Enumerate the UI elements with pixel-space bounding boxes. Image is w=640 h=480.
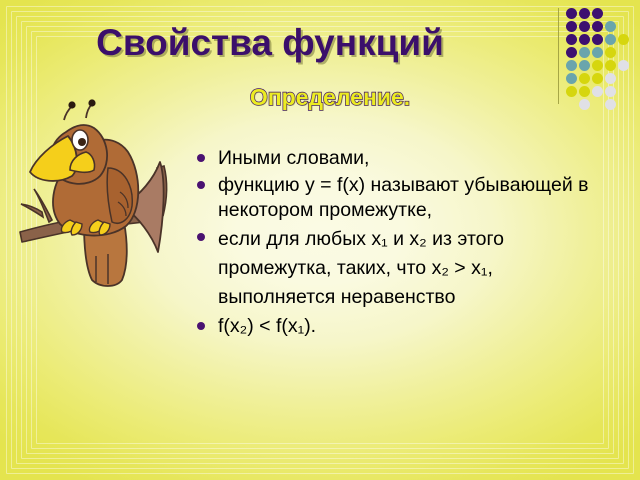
bullet-marker-icon: [197, 181, 205, 189]
decorative-dot: [605, 99, 616, 110]
decorative-dot: [579, 60, 590, 71]
decorative-dot: [579, 99, 590, 110]
decorative-dot: [592, 73, 603, 84]
decorative-dot: [566, 73, 577, 84]
decorative-dot: [566, 34, 577, 45]
decorative-dot: [566, 8, 577, 19]
decorative-dot: [579, 86, 590, 97]
decorative-dot: [566, 60, 577, 71]
bullet-marker-icon: [197, 154, 205, 162]
decorative-dot: [605, 60, 616, 71]
list-item: Иными словами,: [195, 146, 615, 171]
decorative-dot: [605, 21, 616, 32]
cartoon-bird-illustration: [12, 96, 180, 306]
decorative-dot: [579, 21, 590, 32]
decorative-dot: [618, 34, 629, 45]
bullet-text: f(x₂) < f(x₁).: [218, 315, 316, 337]
vertical-divider-line: [558, 8, 559, 104]
decorative-dot: [566, 86, 577, 97]
decorative-dot: [592, 8, 603, 19]
bullet-text: функцию y = f(x) называют убывающей в не…: [218, 174, 589, 221]
decorative-dot: [605, 34, 616, 45]
definition-bullet-list: Иными словами, функцию y = f(x) называют…: [195, 146, 615, 341]
slide-canvas: Свойства функций Определение. Иными слов…: [0, 0, 640, 480]
bird-beak-upper: [30, 136, 77, 181]
decorative-dot: [592, 60, 603, 71]
list-item: f(x₂) < f(x₁).: [195, 314, 615, 339]
decorative-dot: [566, 47, 577, 58]
bullet-marker-icon: [197, 322, 205, 330]
decorative-dot: [605, 86, 616, 97]
decorative-dot: [605, 47, 616, 58]
decorative-dot: [579, 8, 590, 19]
decorative-dot: [618, 60, 629, 71]
list-item: функцию y = f(x) называют убывающей в не…: [195, 173, 615, 223]
slide-subtitle: Определение.: [120, 84, 540, 111]
decorative-dot: [579, 47, 590, 58]
decorative-dot: [592, 21, 603, 32]
decorative-dot: [605, 73, 616, 84]
bird-head-tufts: [64, 99, 96, 120]
bird-pupil: [78, 138, 86, 146]
list-item: если для любых x₁ и x₂ из этого промежут…: [195, 225, 615, 312]
bullet-text: если для любых x₁ и x₂ из этого промежут…: [218, 228, 504, 308]
decorative-dot: [566, 21, 577, 32]
bullet-text: Иными словами,: [218, 147, 369, 169]
slide-title: Свойства функций: [0, 22, 540, 64]
decorative-dot: [579, 34, 590, 45]
decorative-dot: [579, 73, 590, 84]
bullet-marker-icon: [197, 233, 205, 241]
decorative-dot: [592, 47, 603, 58]
decorative-dot: [592, 34, 603, 45]
decorative-dot-grid: [566, 8, 630, 112]
decorative-dot: [592, 86, 603, 97]
